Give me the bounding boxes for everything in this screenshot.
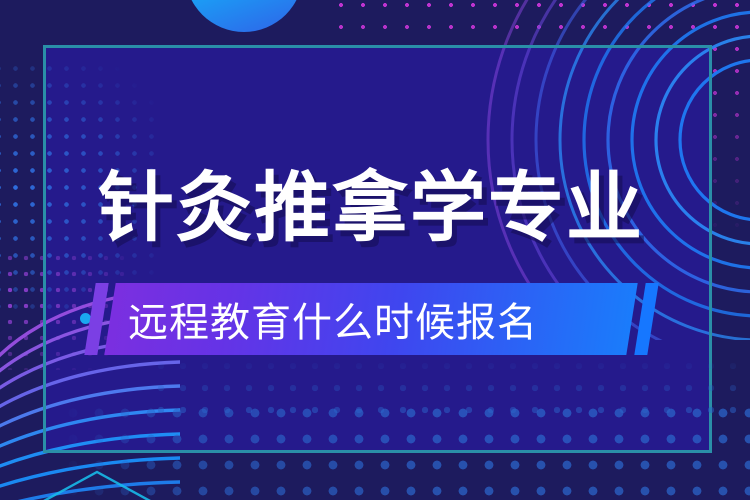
cyan-chevron-icon <box>42 466 152 500</box>
blue-circle-decoration-icon <box>185 0 303 32</box>
page-title: 针灸推拿学专业 <box>98 163 644 255</box>
bottom-dot-pattern-upper-icon <box>150 355 750 425</box>
bottom-dot-pattern-icon <box>60 400 750 500</box>
subtitle-text: 远程教育什么时候报名 <box>128 283 648 355</box>
promo-banner: 针灸推拿学专业 远程教育什么时候报名 <box>0 0 750 500</box>
subtitle-banner: 远程教育什么时候报名 <box>88 283 668 355</box>
